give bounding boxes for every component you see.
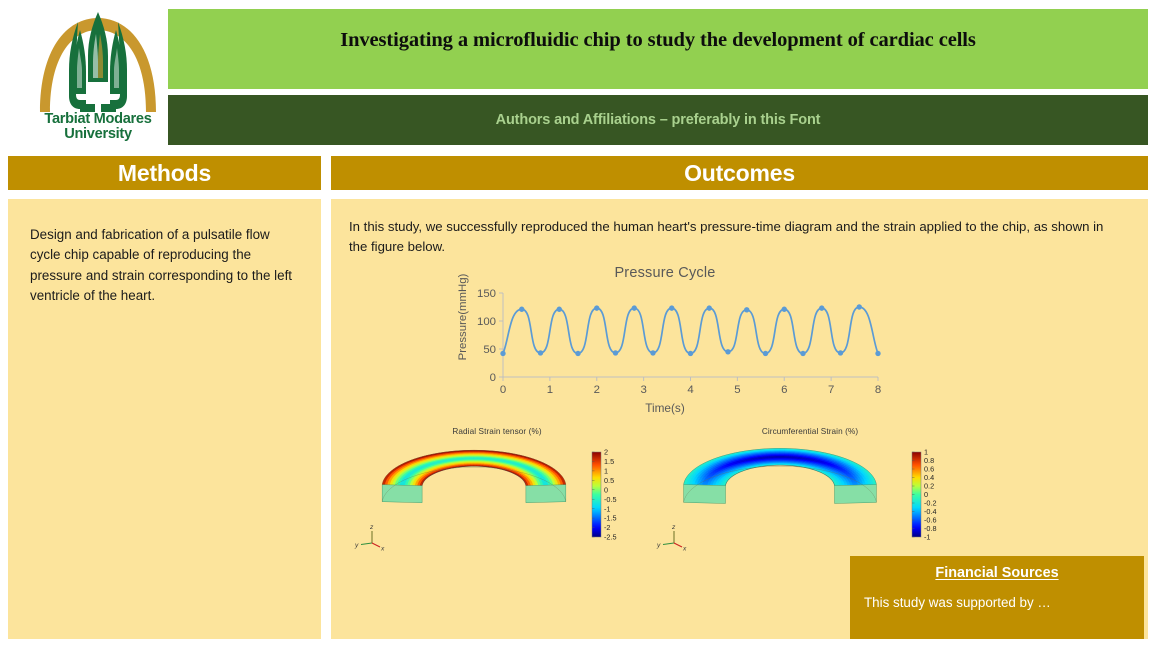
svg-text:5: 5 xyxy=(734,384,740,396)
svg-text:-1.5: -1.5 xyxy=(604,514,617,523)
methods-panel: Design and fabrication of a pulsatile fl… xyxy=(8,199,321,639)
svg-text:2: 2 xyxy=(594,384,600,396)
svg-text:0: 0 xyxy=(500,384,506,396)
poster-canvas: Tarbiat Modares University Investigating… xyxy=(0,0,1155,647)
svg-text:1: 1 xyxy=(604,466,608,475)
svg-text:2: 2 xyxy=(604,448,608,457)
svg-text:x: x xyxy=(682,546,687,553)
svg-text:7: 7 xyxy=(828,384,834,396)
svg-text:-0.5: -0.5 xyxy=(604,495,617,504)
svg-text:-1: -1 xyxy=(604,504,611,513)
authors-affiliations-text: Authors and Affiliations – preferably in… xyxy=(496,112,821,128)
svg-text:1: 1 xyxy=(547,384,553,396)
svg-text:4: 4 xyxy=(687,384,693,396)
figure-circumferential-strain: Circumferential Strain (%) 10.80.60.40.2… xyxy=(650,427,970,552)
section-header-outcomes: Outcomes xyxy=(331,156,1148,190)
svg-text:0: 0 xyxy=(490,372,496,384)
logo-text-line1: Tarbiat Modares xyxy=(28,112,168,127)
figure-circumferential-strain-canvas: 10.80.60.40.20-0.2-0.4-0.6-0.8-1yzx xyxy=(650,437,970,552)
outcomes-intro-text: In this study, we successfully reproduce… xyxy=(331,199,1148,258)
svg-text:z: z xyxy=(671,524,676,531)
svg-text:z: z xyxy=(369,524,374,531)
svg-text:0: 0 xyxy=(604,485,608,494)
svg-text:-2: -2 xyxy=(604,523,611,532)
section-header-outcomes-label: Outcomes xyxy=(684,160,795,187)
chart-title: Pressure Cycle xyxy=(440,265,890,281)
chart-plot-area: 050100150012345678 xyxy=(440,287,890,399)
svg-text:y: y xyxy=(656,542,661,549)
methods-body-text: Design and fabrication of a pulsatile fl… xyxy=(8,199,321,307)
svg-text:0.5: 0.5 xyxy=(604,476,614,485)
logo-text-line2: University xyxy=(28,127,168,142)
figure-radial-strain-title: Radial Strain tensor (%) xyxy=(352,427,642,436)
section-header-methods-label: Methods xyxy=(118,160,211,187)
financial-sources-heading: Financial Sources xyxy=(850,565,1144,581)
svg-text:3: 3 xyxy=(640,384,646,396)
svg-text:-1: -1 xyxy=(924,533,931,542)
section-header-methods: Methods xyxy=(8,156,321,190)
svg-text:150: 150 xyxy=(477,288,496,300)
university-logo: Tarbiat Modares University xyxy=(28,4,168,146)
svg-text:-2.5: -2.5 xyxy=(604,533,617,542)
svg-text:6: 6 xyxy=(781,384,787,396)
figure-radial-strain: Radial Strain tensor (%) 21.510.50-0.5-1… xyxy=(352,427,642,552)
financial-sources-body: This study was supported by … xyxy=(850,595,1144,610)
svg-text:100: 100 xyxy=(477,316,496,328)
svg-text:8: 8 xyxy=(875,384,881,396)
authors-affiliations-bar: Authors and Affiliations – preferably in… xyxy=(168,95,1148,145)
page-title: Investigating a microfluidic chip to stu… xyxy=(340,29,976,52)
financial-sources-box: Financial Sources This study was support… xyxy=(850,556,1144,639)
poster-title-bar: Investigating a microfluidic chip to stu… xyxy=(168,9,1148,89)
svg-text:50: 50 xyxy=(483,344,496,356)
figure-radial-strain-canvas: 21.510.50-0.5-1-1.5-2-2.5yzx xyxy=(352,437,642,552)
svg-text:1.5: 1.5 xyxy=(604,457,614,466)
svg-text:x: x xyxy=(380,546,385,553)
figure-circumferential-strain-title: Circumferential Strain (%) xyxy=(650,427,970,436)
svg-text:y: y xyxy=(354,542,359,549)
chart-x-axis-label: Time(s) xyxy=(440,401,890,415)
pressure-cycle-chart: Pressure Cycle Pressure(mmHg) Time(s) 05… xyxy=(440,265,890,420)
